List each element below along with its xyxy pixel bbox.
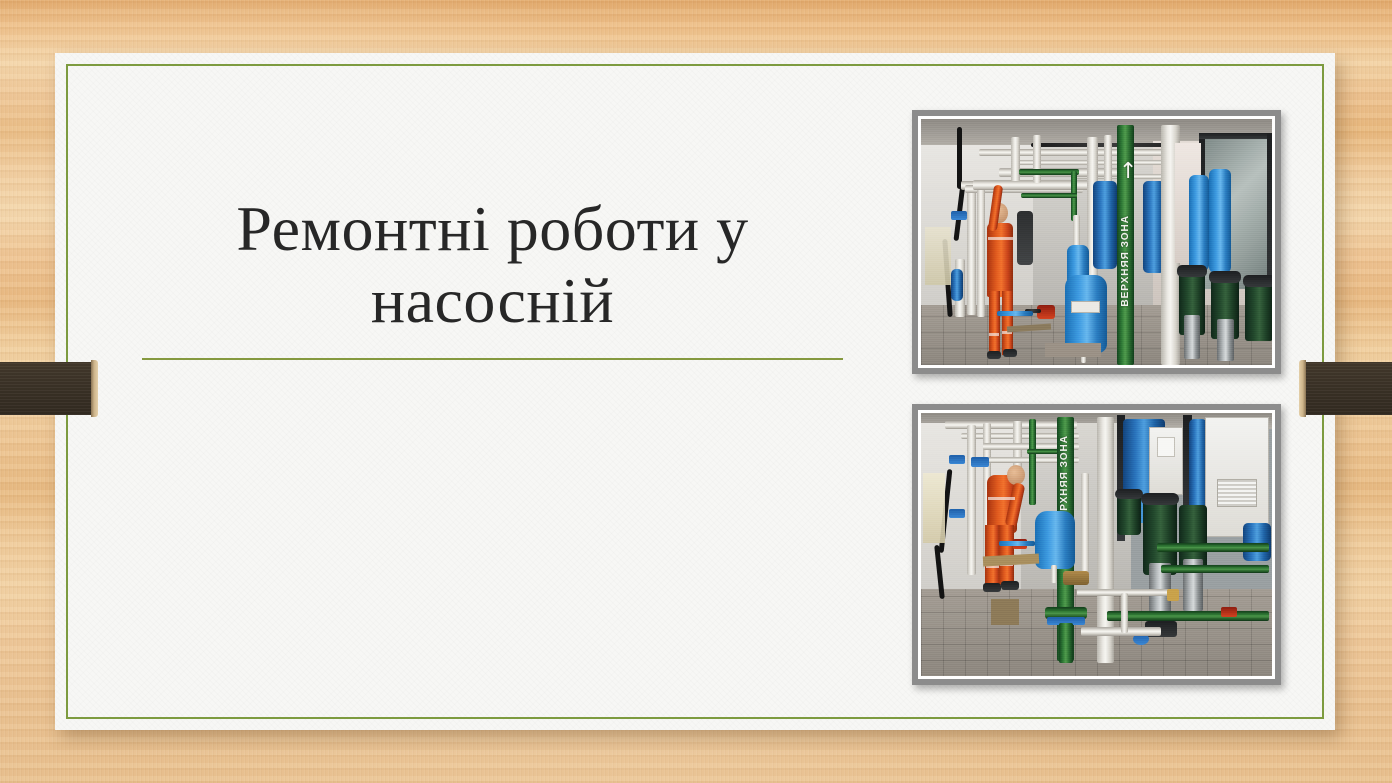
photo-top-scene: ↑ ВЕРХНЯЯ ЗОНА bbox=[921, 119, 1272, 365]
pipe-label-top: ВЕРХНЯЯ ЗОНА bbox=[1120, 215, 1131, 307]
title-underline-rule bbox=[142, 358, 843, 360]
title-block: Ремонтні роботи у насосній bbox=[142, 193, 843, 360]
ribbon-right-decoration bbox=[1305, 362, 1392, 415]
page-title: Ремонтні роботи у насосній bbox=[142, 193, 843, 336]
photo-bottom-frame[interactable]: ВЕРХНЯЯ ЗОНА bbox=[912, 404, 1281, 685]
photo-bottom-scene: ВЕРХНЯЯ ЗОНА bbox=[921, 413, 1272, 676]
pipe-arrow-icon-top: ↑ bbox=[1119, 161, 1133, 183]
ribbon-left-decoration bbox=[0, 362, 92, 415]
photo-top-frame[interactable]: ↑ ВЕРХНЯЯ ЗОНА bbox=[912, 110, 1281, 374]
slide-canvas: Ремонтні роботи у насосній bbox=[0, 0, 1392, 783]
